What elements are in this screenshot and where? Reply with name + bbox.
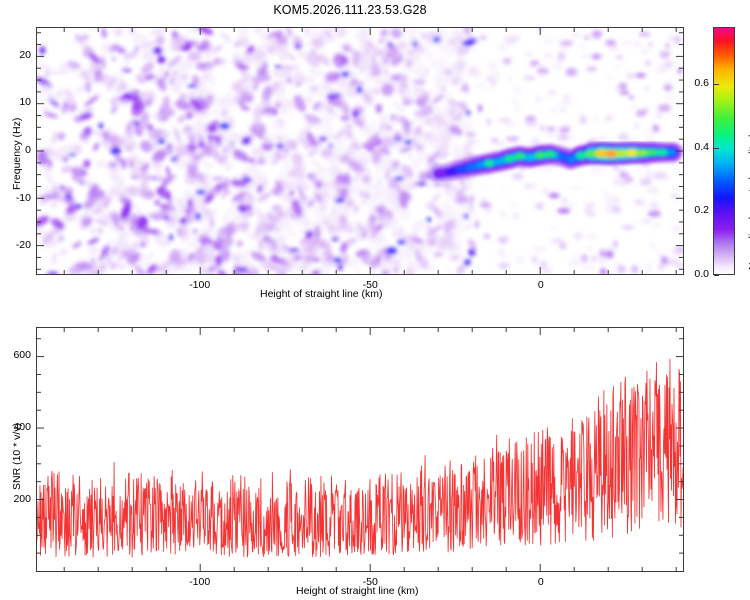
colorbar	[713, 27, 735, 275]
snr-panel	[36, 327, 684, 572]
spectrogram-y-tick: -10	[3, 192, 31, 204]
colorbar-gradient	[714, 28, 734, 274]
colorbar-tick-mark	[714, 148, 719, 149]
colorbar-tick: 0.6	[685, 77, 709, 89]
colorbar-tick: 0.0	[685, 268, 709, 280]
snr-canvas	[37, 328, 683, 571]
spectrogram-y-tick: 10	[3, 96, 31, 108]
spectrogram-x-tick: -100	[175, 279, 225, 291]
colorbar-tick-mark	[714, 84, 719, 85]
snr-x-tick: -50	[345, 576, 395, 588]
spectrogram-panel	[36, 27, 684, 275]
spectrogram-y-tick: -20	[3, 239, 31, 251]
snr-x-tick: 0	[516, 576, 566, 588]
colorbar-tick-mark	[714, 211, 719, 212]
snr-y-tick: 600	[3, 349, 31, 361]
colorbar-tick: 0.4	[685, 141, 709, 153]
spectrogram-x-tick: -50	[345, 279, 395, 291]
spectrogram-y-tick: 20	[3, 49, 31, 61]
spectrogram-x-tick: 0	[516, 279, 566, 291]
snr-y-tick: 400	[3, 421, 31, 433]
figure-title: KOM5.2026.111.23.53.G28	[0, 3, 700, 17]
colorbar-tick-mark	[714, 275, 719, 276]
snr-y-axis-label-text: SNR (10 * v/v)	[11, 423, 23, 490]
snr-y-tick: 200	[3, 493, 31, 505]
spectrogram-canvas	[37, 28, 683, 274]
spectrogram-y-tick: 0	[3, 144, 31, 156]
figure-root: KOM5.2026.111.23.53.G28 Height of straig…	[0, 0, 750, 600]
snr-x-tick: -100	[175, 576, 225, 588]
colorbar-tick: 0.2	[685, 204, 709, 216]
